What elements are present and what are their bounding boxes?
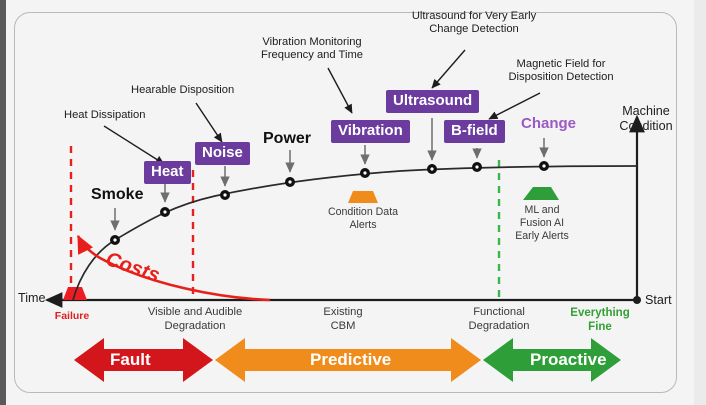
annotation-hearable-disposition: Hearable Disposition xyxy=(131,84,243,97)
chip-bfield[interactable]: B-field xyxy=(444,120,505,143)
band-label-proactive: Proactive xyxy=(530,350,607,370)
band-label-predictive: Predictive xyxy=(310,350,391,370)
tick-visible-audible: Visible and Audible Degradation xyxy=(135,306,255,333)
chip-noise[interactable]: Noise xyxy=(195,142,250,165)
tick-failure: Failure xyxy=(41,310,103,323)
y-axis-label: Machine Condition xyxy=(608,104,684,134)
x-axis-label-right: Start xyxy=(645,293,672,307)
tick-functional-degradation: Functional Degradation xyxy=(448,306,550,333)
tick-existing-cbm: Existing CBM xyxy=(305,306,381,333)
annotation-ultrasound-early: Ultrasound for Very Early Change Detecti… xyxy=(400,10,548,36)
annotation-heat-dissipation: Heat Dissipation xyxy=(64,109,154,122)
tick-everything-fine: Everything Fine xyxy=(561,306,639,334)
x-axis-label-left: Time xyxy=(18,291,46,305)
chip-heat[interactable]: Heat xyxy=(144,161,191,184)
label-change: Change xyxy=(521,115,576,132)
label-smoke: Smoke xyxy=(91,186,143,204)
band-label-fault: Fault xyxy=(110,350,151,370)
ml-fusion-alert-marker xyxy=(523,187,559,200)
arrow-heat-dissipation xyxy=(104,126,164,164)
chip-vibration[interactable]: Vibration xyxy=(331,120,410,143)
condition-data-alert-marker xyxy=(348,191,378,203)
arrow-ultrasound-early xyxy=(432,50,465,88)
note-condition-data-alerts: Condition Data Alerts xyxy=(311,206,415,232)
arrow-vibration-monitoring xyxy=(328,68,352,113)
diagram-root: Heat Dissipation Hearable Disposition Vi… xyxy=(0,0,706,405)
note-ml-fusion-alerts: ML and Fusion AI Early Alerts xyxy=(503,204,581,243)
annotation-magnetic-field: Magnetic Field for Disposition Detection xyxy=(499,58,623,84)
chip-ultrasound[interactable]: Ultrasound xyxy=(386,90,479,113)
arrow-hearable-disposition xyxy=(196,103,222,142)
label-power: Power xyxy=(263,130,311,148)
annotation-vibration-monitoring: Vibration Monitoring Frequency and Time xyxy=(252,36,372,62)
